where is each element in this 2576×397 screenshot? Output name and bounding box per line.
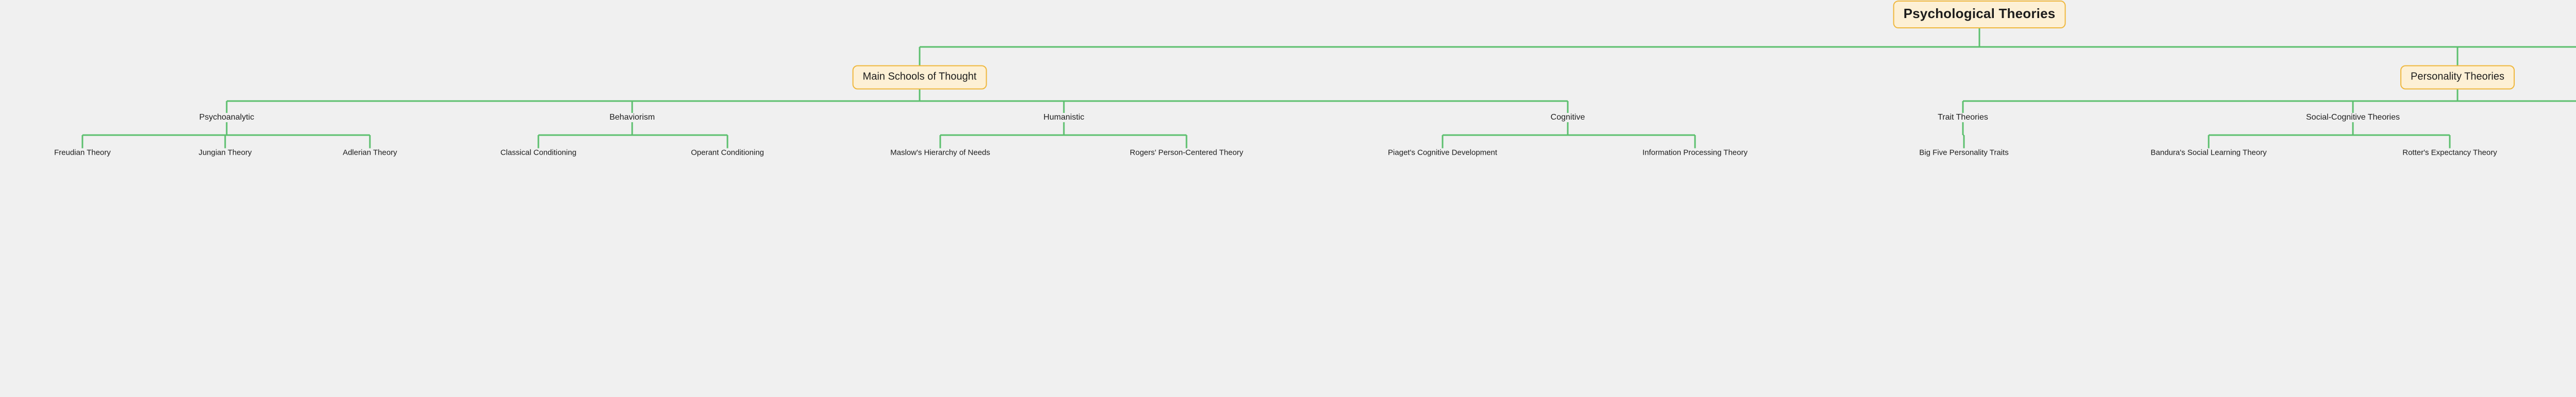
mindmap-node-maslows-hierarchy-of-needs[interactable]: Maslow's Hierarchy of Needs [890,148,990,157]
mindmap-node-main-schools-of-thought[interactable]: Main Schools of Thought [853,65,987,90]
mindmap-node-classical-conditioning[interactable]: Classical Conditioning [500,148,577,157]
mindmap-node-root[interactable]: Psychological Theories [1893,1,2066,28]
mindmap-node-jungian-theory[interactable]: Jungian Theory [198,148,251,157]
mindmap-node-information-processing-theory[interactable]: Information Processing Theory [1642,148,1748,157]
mindmap-canvas: Psychological TheoriesMain Schools of Th… [0,0,2576,397]
mindmap-node-behaviorism[interactable]: Behaviorism [609,113,655,122]
mindmap-node-social-cognitive-theories[interactable]: Social-Cognitive Theories [2306,113,2400,122]
mindmap-node-banduras-social-learning-theory[interactable]: Bandura's Social Learning Theory [2150,148,2266,157]
mindmap-node-trait-theories[interactable]: Trait Theories [1938,113,1988,122]
mindmap-node-operant-conditioning[interactable]: Operant Conditioning [691,148,764,157]
mindmap-node-rogers-person-centered-theory[interactable]: Rogers' Person-Centered Theory [1130,148,1243,157]
node-layer: Psychological TheoriesMain Schools of Th… [0,0,2576,397]
mindmap-node-rotters-expectancy-theory[interactable]: Rotter's Expectancy Theory [2402,148,2497,157]
mindmap-node-freudian-theory[interactable]: Freudian Theory [54,148,111,157]
mindmap-node-big-five-personality-traits[interactable]: Big Five Personality Traits [1919,148,2008,157]
mindmap-node-psychoanalytic[interactable]: Psychoanalytic [199,113,255,122]
mindmap-node-humanistic[interactable]: Humanistic [1043,113,1084,122]
mindmap-node-adlerian-theory[interactable]: Adlerian Theory [343,148,397,157]
mindmap-node-personality-theories[interactable]: Personality Theories [2400,65,2515,90]
mindmap-node-cognitive[interactable]: Cognitive [1551,113,1585,122]
mindmap-node-piagets-cognitive-development[interactable]: Piaget's Cognitive Development [1388,148,1497,157]
